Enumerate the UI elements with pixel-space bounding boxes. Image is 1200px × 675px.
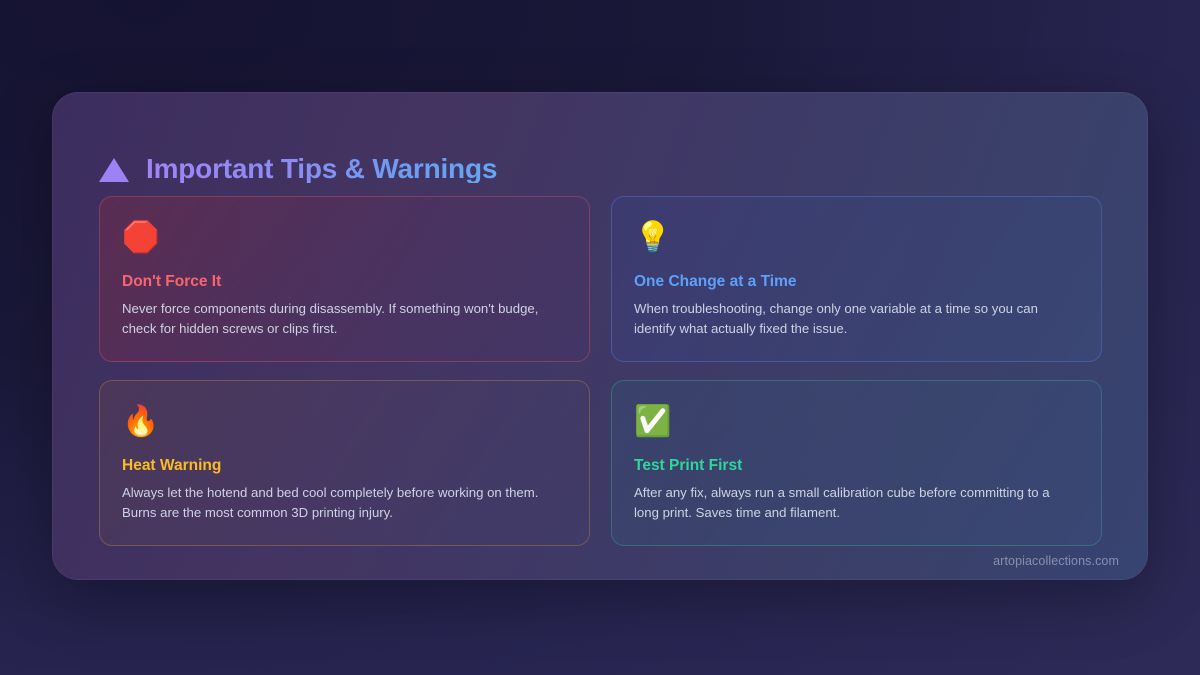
light-bulb-icon: 💡 <box>634 223 1077 257</box>
site-watermark: artopiacollections.com <box>993 554 1119 568</box>
page-title: Important Tips & Warnings <box>146 155 497 183</box>
stop-sign-icon: 🛑 <box>122 223 565 257</box>
tip-card-dont-force-it: 🛑 Don't Force It Never force components … <box>99 196 590 362</box>
tip-card-title: Don't Force It <box>122 273 565 290</box>
tip-card-title: Test Print First <box>634 457 1077 474</box>
tips-card-grid: 🛑 Don't Force It Never force components … <box>99 196 1102 546</box>
tip-card-title: Heat Warning <box>122 457 565 474</box>
warning-triangle-icon <box>99 158 129 182</box>
fire-icon: 🔥 <box>122 407 565 441</box>
tip-card-one-change-at-a-time: 💡 One Change at a Time When troubleshoot… <box>611 196 1102 362</box>
tip-card-body: When troubleshooting, change only one va… <box>634 299 1077 339</box>
tip-card-test-print-first: ✅ Test Print First After any fix, always… <box>611 380 1102 546</box>
check-mark-button-icon: ✅ <box>634 407 1077 441</box>
tip-card-body: Never force components during disassembl… <box>122 299 565 339</box>
panel-header: Important Tips & Warnings <box>99 136 497 202</box>
tips-panel: Important Tips & Warnings 🛑 Don't Force … <box>52 92 1148 580</box>
tip-card-heat-warning: 🔥 Heat Warning Always let the hotend and… <box>99 380 590 546</box>
tip-card-body: After any fix, always run a small calibr… <box>634 483 1077 523</box>
tip-card-body: Always let the hotend and bed cool compl… <box>122 483 565 523</box>
tip-card-title: One Change at a Time <box>634 273 1077 290</box>
